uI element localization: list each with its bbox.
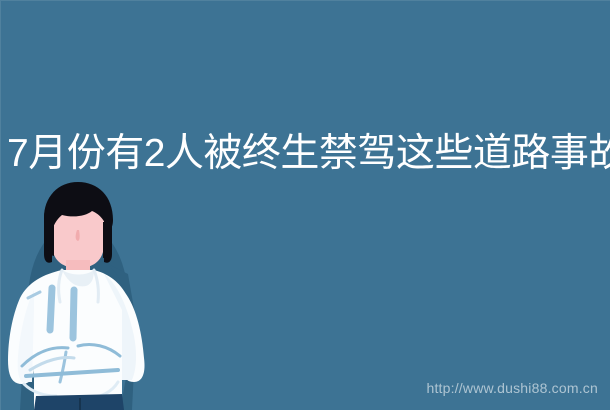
page-title: 7月份有2人被终生禁驾这些道路事故多发 (7, 131, 607, 177)
drawstring-right (73, 290, 74, 338)
person-illustration (0, 170, 160, 410)
watermark-url: http://www.dushi88.com.cn (426, 380, 598, 396)
image-canvas: 7月份有2人被终生禁驾这些道路事故多发 http://www.dushi88.c… (0, 0, 610, 410)
drawstring-left (50, 288, 52, 330)
